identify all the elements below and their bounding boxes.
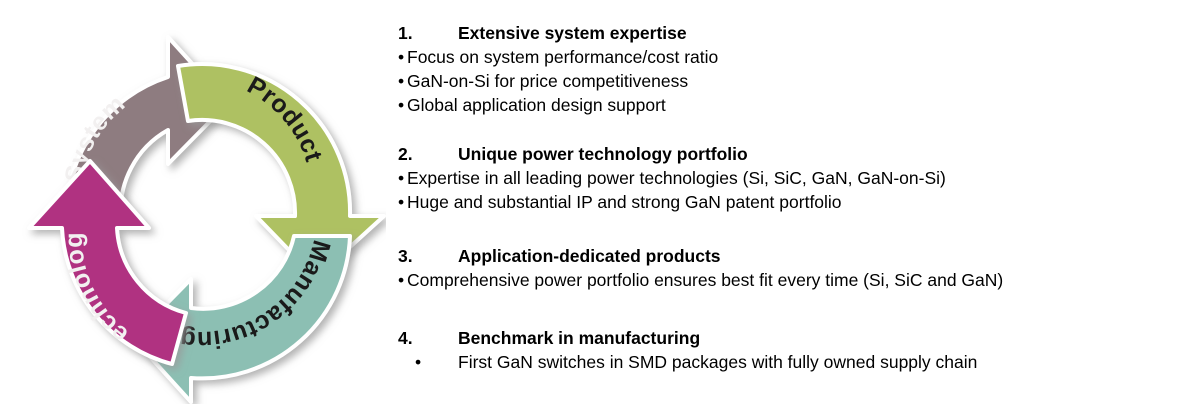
bullet-glyph: • <box>398 93 407 117</box>
section-1-bullets: •Focus on system performance/cost ratio … <box>398 45 1188 117</box>
section-4-heading: 4.Benchmark in manufacturing <box>398 327 1188 350</box>
section-4-number: 4. <box>398 327 458 350</box>
bullet-text: First GaN switches in SMD packages with … <box>458 352 977 372</box>
content-column: 1.Extensive system expertise •Focus on s… <box>398 0 1188 409</box>
slide-canvas: System Product Manufacturing Technology <box>0 0 1200 409</box>
technology-arrow-shape <box>29 161 186 364</box>
section-1-number: 1. <box>398 22 458 45</box>
bullet-text: Expertise in all leading power technolog… <box>407 168 946 188</box>
section-1-heading: 1.Extensive system expertise <box>398 22 1188 45</box>
bullet-text: Global application design support <box>407 95 666 115</box>
bullet-text: Focus on system performance/cost ratio <box>407 47 718 67</box>
list-item: •Comprehensive power portfolio ensures b… <box>398 268 1188 292</box>
section-3-number: 3. <box>398 245 458 268</box>
section-4-bullets: •First GaN switches in SMD packages with… <box>398 350 1188 374</box>
section-3-heading: 3.Application-dedicated products <box>398 245 1188 268</box>
bullet-glyph: • <box>398 190 407 214</box>
content-section-3: 3.Application-dedicated products •Compre… <box>398 245 1188 292</box>
cycle-diagram: System Product Manufacturing Technology <box>16 4 386 404</box>
bullet-text: Huge and substantial IP and strong GaN p… <box>407 192 842 212</box>
section-2-heading: 2.Unique power technology portfolio <box>398 143 1188 166</box>
bullet-text: Comprehensive power portfolio ensures be… <box>407 270 1003 290</box>
section-3-bullets: •Comprehensive power portfolio ensures b… <box>398 268 1188 292</box>
section-2-bullets: •Expertise in all leading power technolo… <box>398 166 1188 214</box>
bullet-glyph: • <box>398 350 458 374</box>
list-item: •Global application design support <box>398 93 1188 117</box>
bullet-text: GaN-on-Si for price competitiveness <box>407 71 688 91</box>
bullet-glyph: • <box>398 69 407 93</box>
section-4-title: Benchmark in manufacturing <box>458 328 700 348</box>
bullet-glyph: • <box>398 166 407 190</box>
section-2-number: 2. <box>398 143 458 166</box>
list-item: •Huge and substantial IP and strong GaN … <box>398 190 1188 214</box>
bullet-glyph: • <box>398 45 407 69</box>
bullet-glyph: • <box>398 268 407 292</box>
content-section-2: 2.Unique power technology portfolio •Exp… <box>398 143 1188 214</box>
section-3-title: Application-dedicated products <box>458 246 721 266</box>
cycle-segment-technology[interactable] <box>29 161 186 364</box>
list-item: •Expertise in all leading power technolo… <box>398 166 1188 190</box>
content-section-1: 1.Extensive system expertise •Focus on s… <box>398 22 1188 117</box>
section-1-title: Extensive system expertise <box>458 23 687 43</box>
content-section-4: 4.Benchmark in manufacturing •First GaN … <box>398 327 1188 374</box>
list-item: •GaN-on-Si for price competitiveness <box>398 69 1188 93</box>
section-2-title: Unique power technology portfolio <box>458 144 748 164</box>
list-item: •Focus on system performance/cost ratio <box>398 45 1188 69</box>
list-item: •First GaN switches in SMD packages with… <box>398 350 1188 374</box>
